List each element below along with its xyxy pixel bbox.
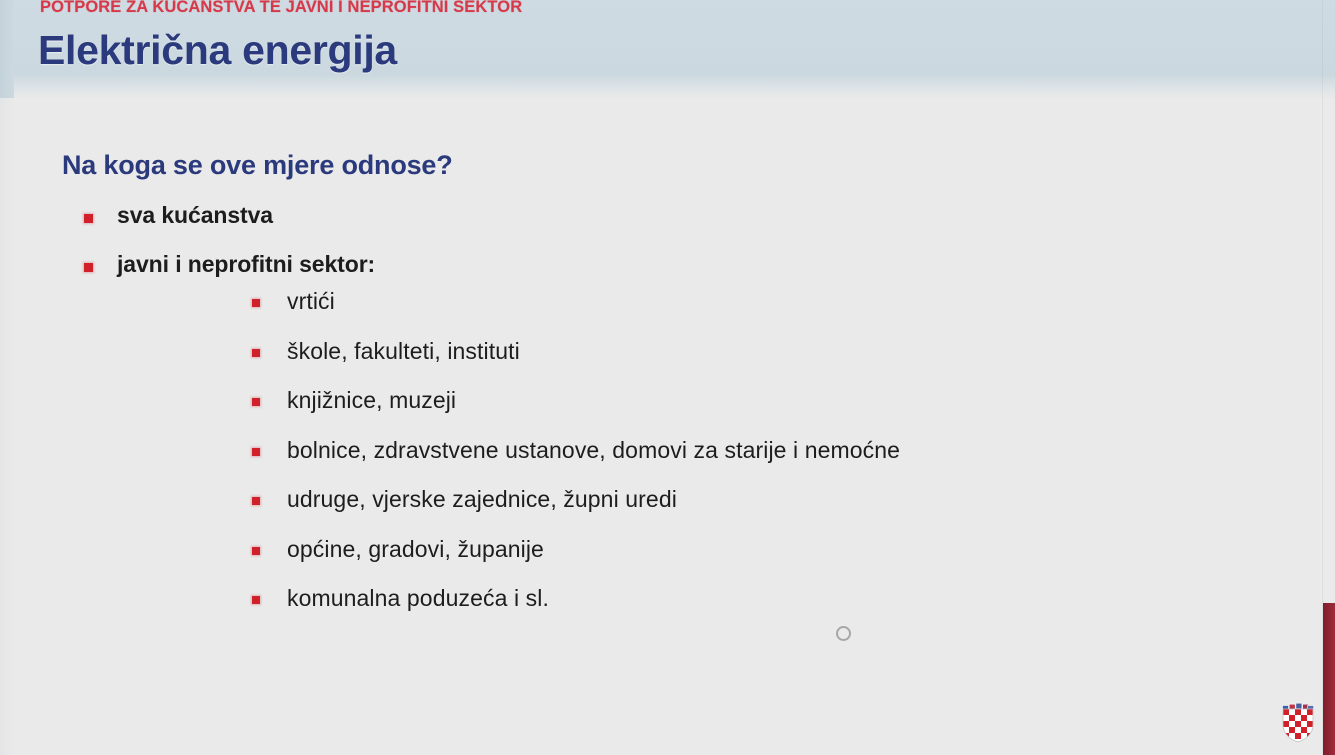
- square-bullet-icon: [252, 299, 260, 307]
- list-item-label: vrtići: [287, 286, 1250, 316]
- square-bullet-icon: [252, 547, 260, 555]
- list-item-label: bolnice, zdravstvene ustanove, domovi za…: [287, 435, 1250, 465]
- list-item: vrtići: [117, 286, 1250, 336]
- square-bullet-icon: [252, 596, 260, 604]
- list-item: knjižnice, muzeji: [117, 385, 1250, 435]
- list-item-label: udruge, vjerske zajednice, župni uredi: [287, 484, 1250, 514]
- right-edge-red-bar: [1323, 603, 1335, 755]
- list-item: javni i neprofitni sektor: vrtići škole,…: [0, 249, 1250, 633]
- section-question-heading: Na koga se ove mjere odnose?: [62, 150, 453, 181]
- square-bullet-icon: [252, 497, 260, 505]
- list-item: bolnice, zdravstvene ustanove, domovi za…: [117, 435, 1250, 485]
- level2-bullet-list: vrtići škole, fakulteti, instituti knjiž…: [117, 286, 1250, 633]
- square-bullet-icon: [84, 214, 93, 223]
- square-bullet-icon: [252, 448, 260, 456]
- loading-spinner-cursor-icon: [836, 626, 851, 641]
- square-bullet-icon: [252, 349, 260, 357]
- list-item-label: javni i neprofitni sektor:: [117, 249, 1250, 279]
- header-eyebrow-text: POTPORE ZA KUĆANSTVA TE JAVNI I NEPROFIT…: [40, 0, 522, 17]
- list-item-label: knjižnice, muzeji: [287, 385, 1250, 415]
- square-bullet-icon: [84, 263, 93, 272]
- bullet-list-container: sva kućanstva javni i neprofitni sektor:…: [0, 200, 1250, 633]
- slide-header-band: POTPORE ZA KUĆANSTVA TE JAVNI I NEPROFIT…: [0, 0, 1335, 98]
- croatian-coat-of-arms-icon: [1281, 701, 1315, 743]
- square-bullet-icon: [252, 398, 260, 406]
- list-item-label: sva kućanstva: [117, 200, 1250, 230]
- list-item: općine, gradovi, županije: [117, 534, 1250, 584]
- presentation-slide: POTPORE ZA KUĆANSTVA TE JAVNI I NEPROFIT…: [0, 0, 1335, 755]
- list-item-label: škole, fakulteti, instituti: [287, 336, 1250, 366]
- list-item: komunalna poduzeća i sl.: [117, 583, 1250, 633]
- list-item-label: komunalna poduzeća i sl.: [287, 583, 1250, 613]
- slide-body: Na koga se ove mjere odnose? sva kućanst…: [0, 98, 1335, 755]
- list-item: sva kućanstva: [0, 200, 1250, 249]
- list-item: udruge, vjerske zajednice, župni uredi: [117, 484, 1250, 534]
- list-item: škole, fakulteti, instituti: [117, 336, 1250, 386]
- level1-bullet-list: sva kućanstva javni i neprofitni sektor:…: [0, 200, 1250, 633]
- slide-title: Električna energija: [38, 30, 397, 71]
- list-item-label: općine, gradovi, županije: [287, 534, 1250, 564]
